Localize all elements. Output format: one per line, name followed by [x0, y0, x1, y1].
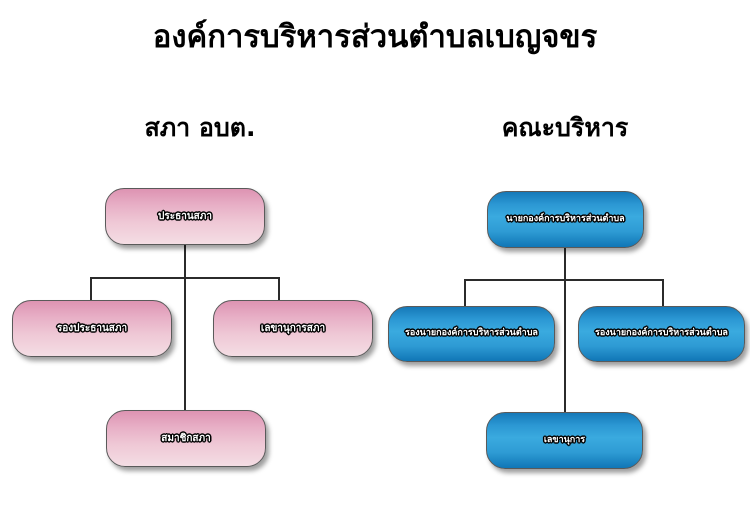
node-council-members-label: สมาชิกสภา	[155, 433, 216, 444]
node-executive-secretary-label: เลขานุการ	[538, 436, 591, 446]
node-council-vice-chair-label: รองประธานสภา	[51, 323, 133, 334]
connector-council-sibling-bar	[90, 277, 280, 279]
node-council-chair-label: ประธานสภา	[152, 211, 218, 222]
node-executive-mayor-label: นายกองค์การบริหารส่วนตำบล	[500, 215, 630, 225]
connector-executive-deputy2-drop	[662, 279, 664, 306]
node-executive-secretary[interactable]: เลขานุการ	[486, 412, 643, 469]
node-council-secretary-label: เลขานุการสภา	[255, 323, 331, 334]
node-executive-deputy-2[interactable]: รองนายกองค์การบริหารส่วนตำบล	[578, 306, 745, 362]
node-executive-mayor[interactable]: นายกองค์การบริหารส่วนตำบล	[487, 191, 644, 248]
node-executive-deputy-2-label: รองนายกองค์การบริหารส่วนตำบล	[589, 329, 734, 339]
node-executive-deputy-1-label: รองนายกองค์การบริหารส่วนตำบล	[399, 329, 544, 339]
connector-executive-deputy1-drop	[464, 279, 466, 306]
node-council-members[interactable]: สมาชิกสภา	[106, 410, 266, 467]
node-council-vice-chair[interactable]: รองประธานสภา	[12, 300, 172, 357]
council-column-subtitle: สภา อบต.	[95, 108, 305, 148]
node-council-secretary[interactable]: เลขานุการสภา	[213, 300, 373, 357]
node-executive-deputy-1[interactable]: รองนายกองค์การบริหารส่วนตำบล	[388, 306, 555, 362]
connector-council-trunk	[184, 244, 186, 410]
connector-executive-trunk	[564, 248, 566, 412]
node-council-chair[interactable]: ประธานสภา	[105, 188, 265, 245]
page-title: องค์การบริหารส่วนตำบลเบญจขร	[0, 20, 750, 56]
executive-column-subtitle: คณะบริหาร	[460, 108, 670, 148]
org-chart-canvas: องค์การบริหารส่วนตำบลเบญจขร สภา อบต. คณะ…	[0, 0, 750, 528]
connector-executive-sibling-bar	[464, 279, 664, 281]
